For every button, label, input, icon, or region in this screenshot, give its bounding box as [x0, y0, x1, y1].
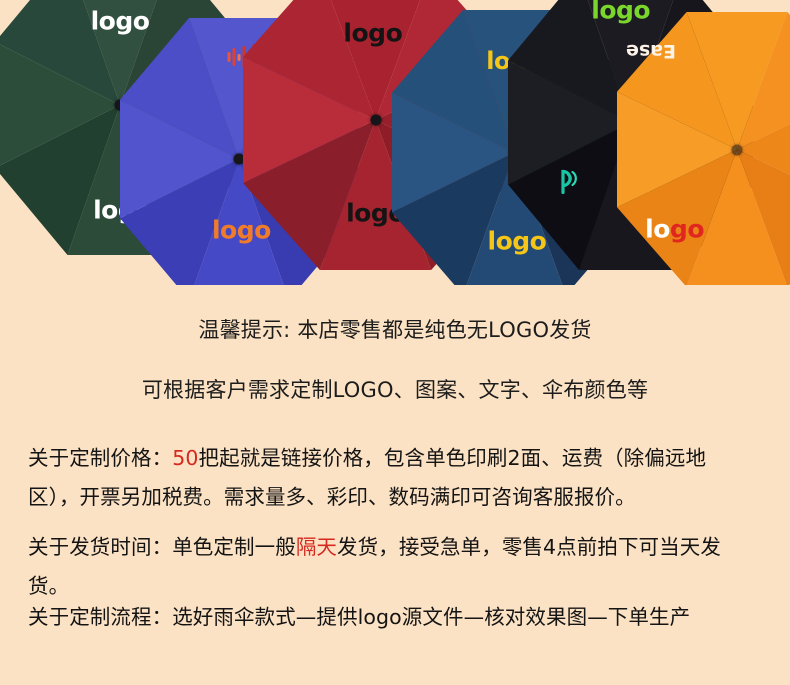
shipping-prefix: 单色定制一般 — [172, 535, 296, 559]
umbrella-orange: Ease logo — [617, 12, 790, 285]
label-custom-price: 关于定制价格： — [28, 446, 172, 470]
process-details: 选好雨伞款式—提供logo源文件—核对效果图—下单生产 — [172, 605, 690, 629]
umbrella-logo-part-a: lo — [645, 215, 670, 244]
product-image-banner: logo logo logo — [0, 0, 790, 285]
headline-customization-options: 可根据客户需求定制LOGO、图案、文字、伞布颜色等 — [0, 378, 790, 403]
label-shipping-time: 关于发货时间： — [28, 535, 172, 559]
ease-brand-text: Ease — [626, 40, 676, 62]
paragraph-shipping-time: 关于发货时间：单色定制一般隔天发货，接受急单，零售4点前拍下可当天发货。 — [28, 528, 746, 606]
umbrella-hub — [732, 144, 743, 155]
umbrella-logo-print: logo — [645, 217, 704, 242]
shipping-highlight: 隔天 — [296, 535, 337, 559]
customization-info-block: 温馨提示: 本店零售都是纯色无LOGO发货 可根据客户需求定制LOGO、图案、文… — [0, 285, 790, 685]
paragraph-custom-price: 关于定制价格：50把起就是链接价格，包含单色印刷2面、运费（除偏远地区），开票另… — [28, 439, 746, 517]
circular-p-icon — [550, 162, 584, 201]
headline-retail-notice: 温馨提示: 本店零售都是纯色无LOGO发货 — [0, 318, 790, 343]
umbrella-hub — [370, 115, 381, 126]
umbrella-logo-part-b: go — [670, 215, 704, 244]
price-minimum-quantity: 50 — [172, 446, 198, 470]
paragraph-custom-process: 关于定制流程：选好雨伞款式—提供logo源文件—核对效果图—下单生产 — [28, 598, 746, 637]
label-custom-process: 关于定制流程： — [28, 605, 172, 629]
